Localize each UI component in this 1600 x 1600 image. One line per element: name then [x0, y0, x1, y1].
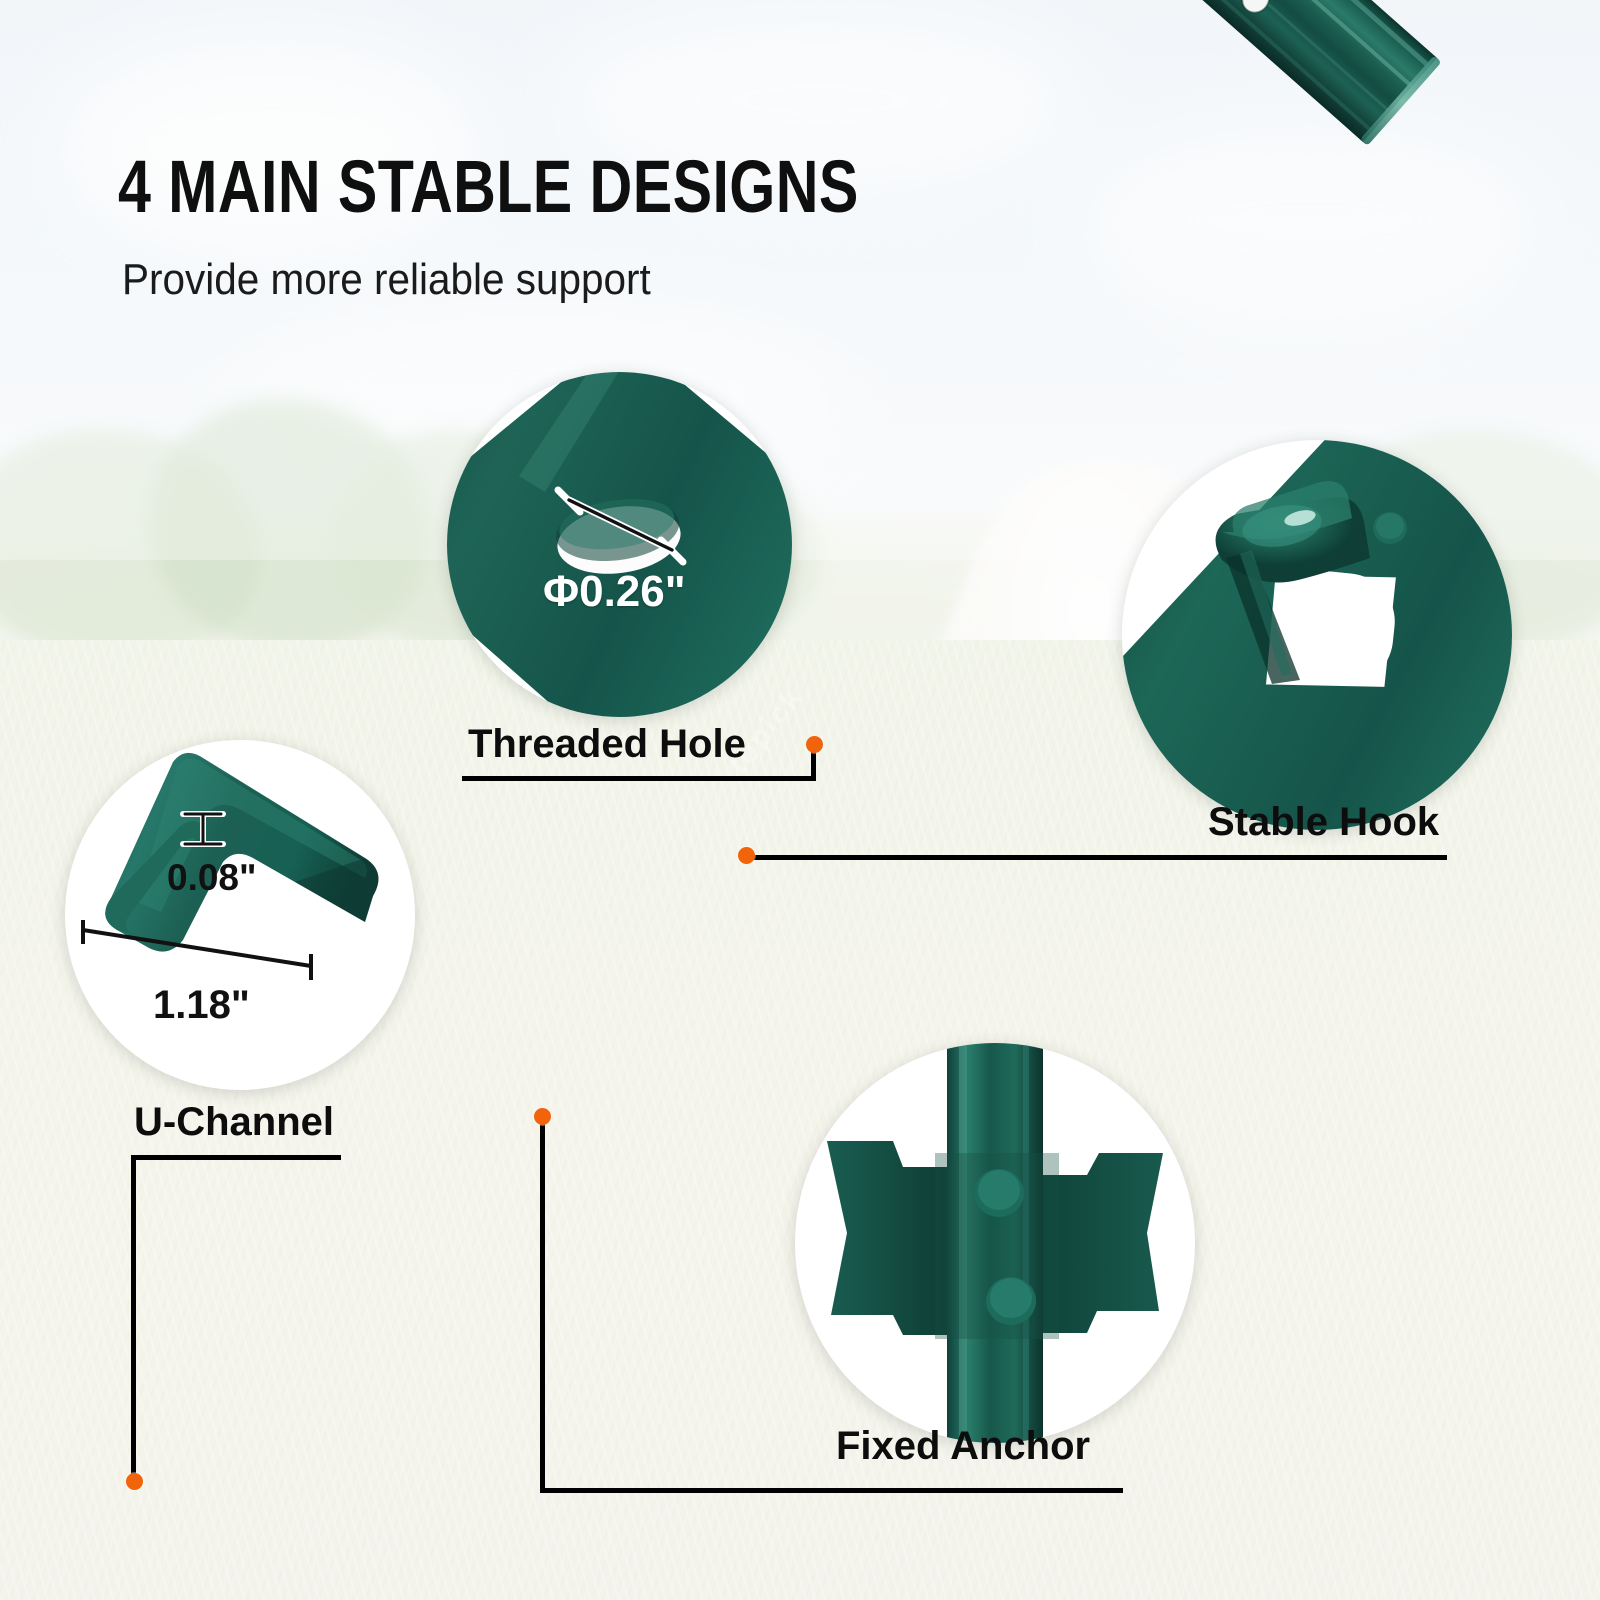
leader-line-fixed-anchor-h [540, 1488, 1123, 1493]
marker-dot-stable-hook [738, 847, 755, 864]
callout-label-stable-hook: Stable Hook [1208, 800, 1439, 845]
leader-line-fixed-anchor-v [540, 1122, 545, 1492]
marker-dot-fixed-anchor [534, 1108, 551, 1125]
callout-circle-threaded-hole: Φ0.26" [447, 372, 792, 717]
leader-line-u-channel-h [131, 1155, 341, 1160]
callout-circle-fixed-anchor [795, 1043, 1195, 1443]
infographic-canvas: 4 MAIN STABLE DESIGNS Provide more relia… [0, 0, 1600, 1600]
marker-dot-threaded-hole [806, 736, 823, 753]
callout-circle-stable-hook [1122, 440, 1512, 830]
leader-line-threaded-hole-h [462, 776, 816, 781]
leader-line-stable-hook [752, 855, 1447, 860]
callout-label-fixed-anchor: Fixed Anchor [836, 1424, 1090, 1469]
threaded-hole-dimension: Φ0.26" [543, 567, 686, 617]
callout-label-threaded-hole: Threaded Hole [468, 722, 746, 767]
callout-circle-u-channel: 0.08" 1.18" [65, 740, 415, 1090]
post-body [0, 0, 1484, 194]
u-channel-thickness-dimension: 0.08" [167, 857, 257, 899]
leader-line-u-channel-v [131, 1155, 136, 1481]
callout-label-u-channel: U-Channel [134, 1100, 334, 1145]
marker-dot-u-channel [126, 1473, 143, 1490]
u-channel-width-dimension: 1.18" [153, 983, 250, 1028]
